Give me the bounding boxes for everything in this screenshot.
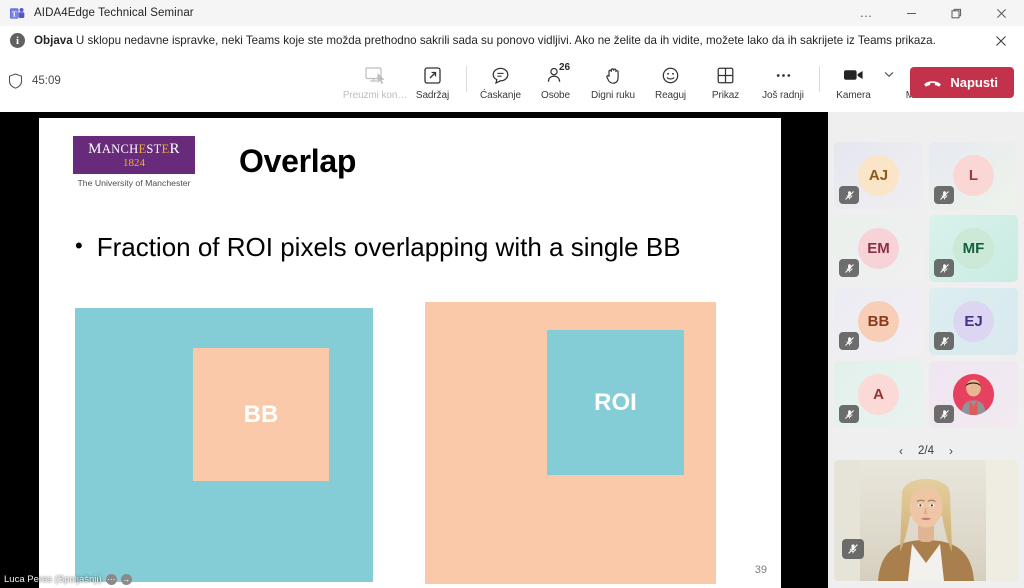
participant-tile[interactable]: EJ: [929, 288, 1018, 355]
toolbar-label: Prikaz: [712, 90, 739, 101]
chevron-down-icon: [884, 71, 894, 78]
notification-banner: i Objava U sklopu nedavne ispravke, neki…: [0, 26, 1024, 56]
meeting-toolbar: 45:09 Preuzmi kon…: [0, 55, 1024, 113]
forward-icon[interactable]: →: [121, 574, 132, 585]
logo-mark: MANCHESTER 1824: [73, 136, 195, 174]
figure2-inner-region: ROI: [547, 330, 684, 475]
toolbar-button-more-actions[interactable]: Još radnji: [753, 59, 813, 114]
toolbar-label: Još radnji: [762, 90, 804, 101]
ellipsis-icon: [774, 64, 793, 86]
toolbar-button-chat[interactable]: Ćaskanje: [473, 59, 528, 114]
participant-tile[interactable]: A: [834, 361, 923, 428]
avatar: A: [858, 374, 899, 415]
mute-indicator-icon: [839, 405, 859, 423]
slide-bullet-item: • Fraction of ROI pixels overlapping wit…: [75, 230, 735, 264]
toolbar-label: Osobe: [541, 90, 570, 101]
toolbar-divider: [466, 66, 467, 92]
bullet-text: Fraction of ROI pixels overlapping with …: [97, 230, 681, 264]
mute-indicator-icon: [839, 259, 859, 277]
toolbar-label: Kamera: [836, 90, 870, 101]
mute-indicator-icon: [839, 332, 859, 350]
presenter-name-strip: Luca Peres (Spoljašnji) ⋯ →: [0, 571, 184, 588]
window-title: AIDA4Edge Technical Seminar: [34, 7, 194, 19]
avatar-photo: [953, 374, 994, 415]
toolbar-label: Reaguj: [655, 90, 686, 101]
participant-tile[interactable]: AJ: [834, 142, 923, 209]
toolbar-label: Ćaskanje: [480, 90, 521, 101]
banner-label: Objava: [34, 34, 73, 47]
timer-value: 45:09: [32, 75, 61, 87]
banner-message: Objava U sklopu nedavne ispravke, neki T…: [34, 34, 936, 47]
reaction-smiley-icon: [661, 64, 680, 86]
avatar-initials: EJ: [964, 313, 982, 330]
camera-icon: [843, 64, 864, 86]
avatar-initials: EM: [867, 240, 890, 257]
avatar: AJ: [858, 155, 899, 196]
pager-prev-button[interactable]: ‹: [896, 442, 906, 460]
take-control-icon: [365, 64, 385, 86]
avatar-initials: BB: [868, 313, 890, 330]
university-of-manchester-logo: MANCHESTER 1824 The University of Manche…: [73, 136, 195, 188]
pager-value: 2/4: [918, 445, 934, 457]
participant-grid: AJ L EM: [834, 142, 1018, 428]
avatar-initials: MF: [963, 240, 985, 257]
window-close-button[interactable]: [979, 0, 1024, 26]
avatar: EM: [858, 228, 899, 269]
raise-hand-icon: [604, 64, 623, 86]
participant-tile[interactable]: BB: [834, 288, 923, 355]
ellipsis-icon: …: [860, 9, 874, 17]
toolbar-label: Preuzmi kon…: [343, 90, 407, 101]
avatar-initials: AJ: [869, 167, 888, 184]
hang-up-icon: [923, 76, 942, 89]
avatar-initials: L: [969, 167, 978, 184]
slide-title: Overlap: [239, 143, 356, 180]
teams-meeting-window: T AIDA4Edge Technical Seminar …: [0, 0, 1024, 588]
figure1-inner-label: BB: [244, 401, 279, 429]
participants-pager: ‹ 2/4 ›: [828, 442, 1024, 460]
participants-rail: AJ L EM: [828, 112, 1024, 588]
participant-tile[interactable]: L: [929, 142, 1018, 209]
mute-indicator-icon: [934, 259, 954, 277]
logo-wordmark: MANCHESTER: [88, 141, 180, 157]
banner-body: U sklopu nedavne ispravke, neki Teams ko…: [76, 34, 936, 47]
leave-meeting-button[interactable]: Napusti: [910, 67, 1014, 98]
window-maximize-button[interactable]: [934, 0, 979, 26]
toolbar-right: Napusti: [910, 67, 1014, 98]
teams-icon: T: [9, 5, 25, 21]
bullet-marker: •: [75, 230, 83, 264]
window-minimize-button[interactable]: [889, 0, 934, 26]
figure1-inner-region: BB: [193, 348, 329, 481]
presentation-slide: MANCHESTER 1824 The University of Manche…: [39, 118, 781, 588]
shield-icon: [8, 73, 23, 89]
toolbar-button-react[interactable]: Reaguj: [643, 59, 698, 114]
toolbar-button-raise-hand[interactable]: Digni ruku: [583, 59, 643, 114]
avatar-initials: A: [873, 386, 884, 403]
avatar: L: [953, 155, 994, 196]
figure2-inner-label: ROI: [594, 389, 637, 417]
minimize-icon: [906, 8, 917, 19]
title-bar: T AIDA4Edge Technical Seminar …: [0, 0, 1024, 27]
avatar: EJ: [953, 301, 994, 342]
presenter-name: Luca Peres (Spoljašnji): [4, 574, 102, 585]
info-icon: i: [10, 33, 25, 48]
chat-icon: [491, 64, 510, 86]
logo-year: 1824: [123, 157, 145, 169]
participant-tile[interactable]: EM: [834, 215, 923, 282]
people-count-badge: 26: [559, 62, 570, 73]
participant-tile[interactable]: MF: [929, 215, 1018, 282]
logo-subtitle: The University of Manchester: [73, 178, 195, 188]
banner-close-button[interactable]: [988, 26, 1014, 55]
toolbar-button-view[interactable]: Prikaz: [698, 59, 753, 114]
close-icon: [996, 8, 1007, 19]
mute-indicator-icon: [934, 405, 954, 423]
meeting-timer: 45:09: [8, 73, 61, 89]
mute-indicator-icon: [842, 539, 864, 559]
shared-content-stage[interactable]: MANCHESTER 1824 The University of Manche…: [0, 112, 828, 588]
mute-indicator-icon: [839, 186, 859, 204]
restore-icon: [951, 8, 962, 19]
toolbar-divider: [819, 66, 820, 92]
close-icon: [995, 35, 1007, 47]
pager-next-button[interactable]: ›: [946, 442, 956, 460]
toolbar-label: Digni ruku: [591, 90, 635, 101]
svg-text:T: T: [11, 10, 16, 18]
more-icon[interactable]: ⋯: [106, 574, 117, 585]
mute-indicator-icon: [934, 186, 954, 204]
grid-view-icon: [716, 64, 735, 86]
leave-label: Napusti: [950, 75, 998, 90]
toolbar-label: Sadržaj: [416, 90, 449, 101]
toolbar-button-content[interactable]: Sadržaj: [405, 59, 460, 114]
mute-indicator-icon: [934, 332, 954, 350]
slide-number: 39: [755, 564, 767, 576]
figure-bb-containing-roi: ROI: [425, 302, 716, 584]
participant-tile[interactable]: [929, 361, 1018, 428]
avatar: BB: [858, 301, 899, 342]
toolbar-button-camera[interactable]: Kamera: [826, 59, 881, 114]
toolbar-button-people[interactable]: 26 Osobe: [528, 59, 583, 114]
content-share-icon: [423, 64, 442, 86]
self-view-video[interactable]: [834, 460, 1018, 581]
figure-roi-containing-bb: BB: [75, 308, 373, 582]
window-more-button[interactable]: …: [844, 0, 889, 26]
toolbar-button-take-control[interactable]: Preuzmi kon…: [345, 59, 405, 114]
avatar: MF: [953, 228, 994, 269]
